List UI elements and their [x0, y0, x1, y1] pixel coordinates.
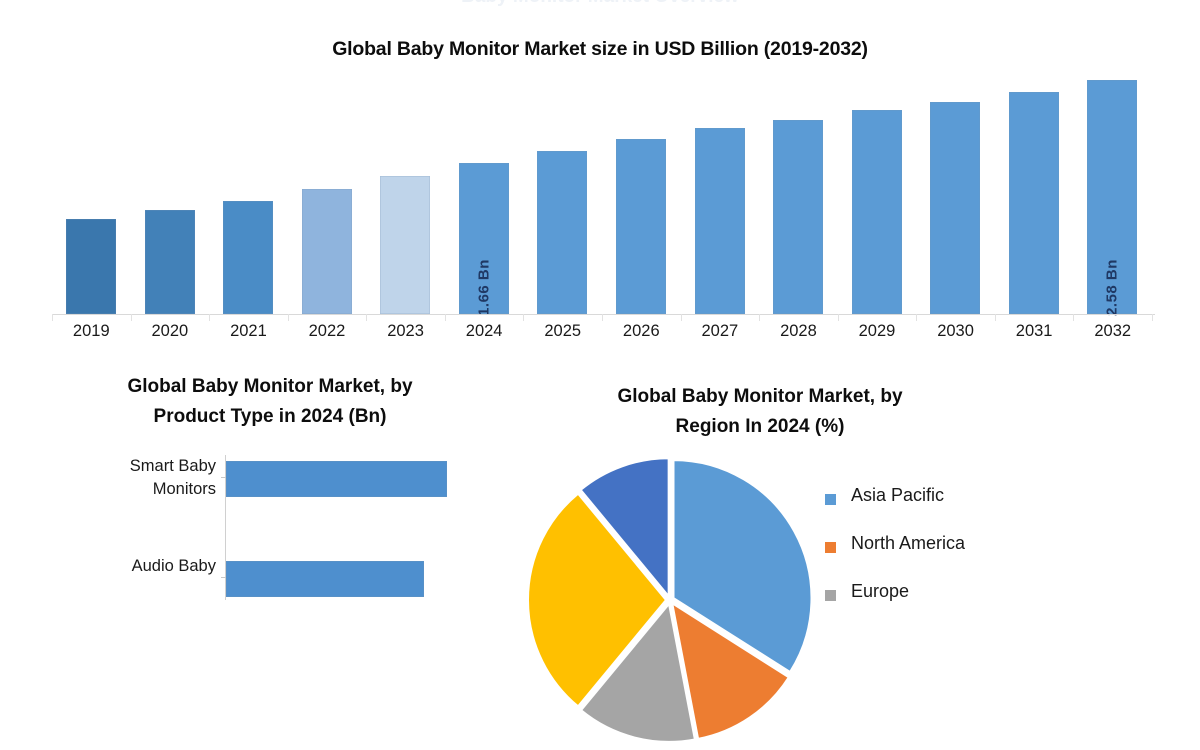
x-axis-label-2022: 2022: [288, 322, 367, 341]
bar-slot: [366, 60, 445, 314]
bar-slot: [602, 60, 681, 314]
x-axis-label-2031: 2031: [995, 322, 1074, 341]
bar-2029: [852, 110, 902, 314]
bar-2019: [66, 219, 116, 314]
x-axis-label-2028: 2028: [759, 322, 838, 341]
product-type-chart: Global Baby Monitor Market, by Product T…: [20, 360, 540, 600]
bar-slot: [523, 60, 602, 314]
product-type-category-label: Audio Baby: [20, 555, 216, 578]
main-chart-title: Global Baby Monitor Market size in USD B…: [0, 38, 1200, 61]
product-type-plot: Smart BabyMonitorsAudio Baby: [20, 455, 520, 600]
cutoff-heading-text: Baby Monitor Market Overview: [0, 0, 1200, 8]
x-axis-label-2019: 2019: [52, 322, 131, 341]
main-chart-ticks: [52, 314, 1152, 321]
product-type-chart-title: Global Baby Monitor Market, by Product T…: [20, 372, 520, 432]
axis-tick: [916, 314, 917, 321]
region-chart: Global Baby Monitor Market, by Region In…: [540, 360, 1200, 600]
category-line: Monitors: [20, 478, 216, 501]
bar-2022: [302, 189, 352, 314]
bar-2020: [145, 210, 195, 314]
cutoff-top-heading: Baby Monitor Market Overview: [0, 0, 1200, 16]
main-chart-bars: 1.66 Bn2.58 Bn: [52, 60, 1152, 314]
region-title-line1: Global Baby Monitor Market, by: [550, 382, 970, 412]
region-pie: [520, 450, 820, 750]
main-chart-plot: 1.66 Bn2.58 Bn: [52, 60, 1152, 314]
axis-tick: [1152, 314, 1153, 321]
bar-slot: [131, 60, 210, 314]
bar-slot: [288, 60, 367, 314]
product-type-title-line1: Global Baby Monitor Market, by: [20, 372, 520, 402]
x-axis-label-2023: 2023: [366, 322, 445, 341]
infographic-page: Baby Monitor Market Overview Global Baby…: [0, 0, 1200, 600]
category-line: Audio Baby: [20, 555, 216, 578]
bar-2027: [695, 128, 745, 314]
legend-swatch: [825, 494, 836, 505]
x-axis-label-2032: 2032: [1073, 322, 1152, 341]
bar-slot: [759, 60, 838, 314]
axis-tick: [209, 314, 210, 321]
axis-tick: [288, 314, 289, 321]
axis-tick: [445, 314, 446, 321]
legend-label: Europe: [851, 581, 909, 602]
product-type-row: Smart BabyMonitors: [20, 455, 520, 517]
product-type-row: Audio Baby: [20, 555, 520, 617]
x-axis-label-2027: 2027: [681, 322, 760, 341]
legend-label: North America: [851, 533, 965, 554]
product-type-title-line2: Product Type in 2024 (Bn): [20, 402, 520, 432]
x-axis-label-2029: 2029: [838, 322, 917, 341]
bar-2031: [1009, 92, 1059, 314]
bar-2025: [537, 151, 587, 314]
axis-tick: [52, 314, 53, 321]
product-type-bar: [226, 561, 424, 597]
bar-2026: [616, 139, 666, 314]
x-axis-label-2030: 2030: [916, 322, 995, 341]
axis-tick: [838, 314, 839, 321]
region-title-line2: Region In 2024 (%): [550, 412, 970, 442]
legend-item: North America: [825, 533, 1125, 581]
bar-2024: 1.66 Bn: [459, 163, 509, 314]
product-type-bar: [226, 461, 447, 497]
legend-item: Europe: [825, 581, 1125, 629]
bar-value-label-2032: 2.58 Bn: [1104, 259, 1121, 316]
axis-tick: [1073, 314, 1074, 321]
axis-tick: [759, 314, 760, 321]
bar-2021: [223, 201, 273, 314]
category-line: Smart Baby: [20, 455, 216, 478]
bar-2028: [773, 120, 823, 314]
legend-swatch: [825, 542, 836, 553]
bar-2032: 2.58 Bn: [1087, 80, 1137, 314]
bar-slot: [52, 60, 131, 314]
region-pie-legend: Asia PacificNorth AmericaEurope: [825, 485, 1125, 629]
bar-slot: [681, 60, 760, 314]
x-axis-label-2020: 2020: [131, 322, 210, 341]
bar-slot: 2.58 Bn: [1073, 60, 1152, 314]
main-bar-chart: Global Baby Monitor Market size in USD B…: [0, 16, 1200, 341]
x-axis-label-2026: 2026: [602, 322, 681, 341]
main-chart-x-axis-labels: 2019202020212022202320242025202620272028…: [52, 322, 1152, 348]
bar-slot: [209, 60, 288, 314]
legend-swatch: [825, 590, 836, 601]
bar-2030: [930, 102, 980, 314]
region-pie-svg: [520, 450, 820, 750]
product-type-category-label: Smart BabyMonitors: [20, 455, 216, 501]
x-axis-label-2021: 2021: [209, 322, 288, 341]
axis-tick: [523, 314, 524, 321]
x-axis-label-2024: 2024: [445, 322, 524, 341]
bar-slot: [916, 60, 995, 314]
axis-tick: [131, 314, 132, 321]
bar-slot: 1.66 Bn: [445, 60, 524, 314]
bar-slot: [838, 60, 917, 314]
region-chart-title: Global Baby Monitor Market, by Region In…: [550, 382, 970, 442]
bar-value-label-2024: 1.66 Bn: [475, 259, 492, 316]
axis-tick: [366, 314, 367, 321]
legend-label: Asia Pacific: [851, 485, 944, 506]
legend-item: Asia Pacific: [825, 485, 1125, 533]
axis-tick: [681, 314, 682, 321]
axis-tick: [602, 314, 603, 321]
bar-slot: [995, 60, 1074, 314]
bar-2023: [380, 176, 430, 314]
axis-tick: [995, 314, 996, 321]
x-axis-label-2025: 2025: [523, 322, 602, 341]
